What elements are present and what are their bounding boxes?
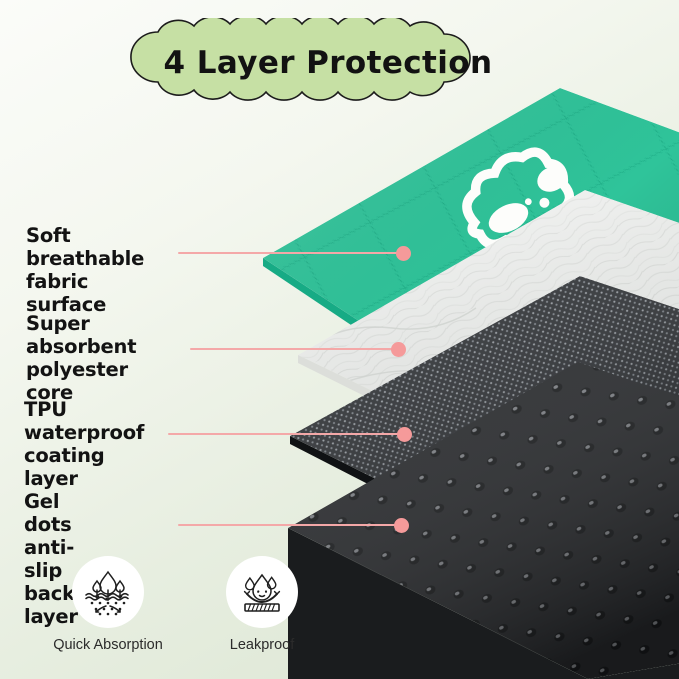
leader-line-tpu-coating — [168, 433, 404, 435]
leader-dot-polyester-core — [391, 342, 406, 357]
leader-line-gel-dots-backing — [178, 524, 401, 526]
feature-quick-absorption: Quick Absorption — [32, 556, 184, 653]
callout-tpu-coating-label: TPU waterproof coating layer — [24, 398, 144, 490]
leakproof-badge — [226, 556, 298, 628]
leader-line-polyester-core — [190, 348, 398, 350]
title-banner: 4 Layer Protection — [118, 18, 538, 108]
infographic-canvas: 4 Layer Protection Soft breathable fabri… — [0, 0, 679, 679]
callout-fabric-surface-label: Soft breathable fabric surface — [26, 224, 144, 316]
water-droplet-absorption-icon — [82, 566, 134, 618]
feature-leakproof: Leakproof — [186, 556, 338, 653]
leader-dot-tpu-coating — [397, 427, 412, 442]
water-repelling-barrier-icon — [236, 566, 288, 618]
callout-polyester-core-label: Super absorbent polyester core — [26, 312, 136, 404]
quick-absorption-caption: Quick Absorption — [32, 637, 184, 653]
leader-line-fabric-surface — [178, 252, 402, 254]
feature-badges: Quick Absorption — [36, 556, 366, 674]
leakproof-caption: Leakproof — [186, 637, 338, 653]
leader-dot-fabric-surface — [396, 246, 411, 261]
leader-dot-gel-dots-backing — [394, 518, 409, 533]
banner-title-text: 4 Layer Protection — [118, 18, 538, 108]
quick-absorption-badge — [72, 556, 144, 628]
